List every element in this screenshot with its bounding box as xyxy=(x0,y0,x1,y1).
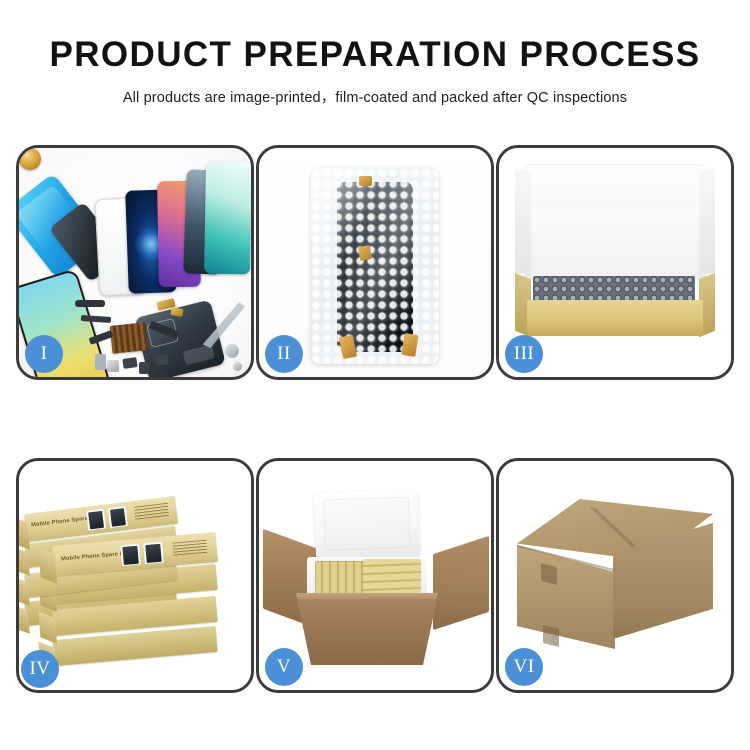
step-card-2[interactable]: II xyxy=(256,145,494,380)
carton-tape xyxy=(541,563,557,585)
step-badge-1: I xyxy=(25,335,63,373)
page-title: PRODUCT PREPARATION PROCESS xyxy=(0,36,750,75)
carton-left-panel xyxy=(517,545,615,649)
plastic-sheen xyxy=(311,168,439,364)
bubble-wrap-bag xyxy=(311,168,439,364)
small-component-part xyxy=(155,354,168,365)
step-badge-5: V xyxy=(265,648,303,686)
step-card-3[interactable]: III xyxy=(496,145,734,380)
step-card-1[interactable]: I xyxy=(16,145,254,380)
box-window xyxy=(86,509,106,531)
step-card-6[interactable]: VI xyxy=(496,458,734,693)
foam-cooler-lid xyxy=(314,489,420,561)
step-badge-4: IV xyxy=(21,650,59,688)
metal-bracket-part xyxy=(107,360,119,372)
kraft-box-front xyxy=(527,300,703,336)
page-subtitle: All products are image-printed，film-coat… xyxy=(0,86,750,107)
step-card-5[interactable]: V xyxy=(256,458,494,693)
earpiece-mesh-part xyxy=(75,300,105,307)
step-card-4[interactable]: Mobile Phone Spare Parts Mobile Phone Sp… xyxy=(16,458,254,693)
screw-part xyxy=(233,362,242,371)
foam-sheet xyxy=(531,208,699,280)
step-badge-3: III xyxy=(505,335,543,373)
process-steps-grid: I II xyxy=(16,145,735,693)
step-badge-2: II xyxy=(265,335,303,373)
carton-flap-right xyxy=(433,536,489,630)
page-header: PRODUCT PREPARATION PROCESS All products… xyxy=(0,0,750,107)
carton-front-panel xyxy=(297,599,437,665)
logic-board-chip xyxy=(110,322,149,354)
camera-lens-part xyxy=(225,344,239,358)
box-spec-lines xyxy=(172,540,207,557)
box-window xyxy=(120,544,141,567)
box-window xyxy=(143,542,164,565)
teal-phone xyxy=(204,162,251,275)
box-window xyxy=(108,506,128,528)
battery-connector-part xyxy=(95,354,106,370)
speaker-component xyxy=(19,148,41,170)
small-component-part xyxy=(139,362,149,374)
box-spec-lines xyxy=(134,503,169,521)
carton-tape xyxy=(543,625,559,647)
tape-piece xyxy=(359,176,372,186)
small-component-part xyxy=(122,357,137,369)
tape-piece xyxy=(358,245,372,261)
step-badge-6: VI xyxy=(505,648,543,686)
